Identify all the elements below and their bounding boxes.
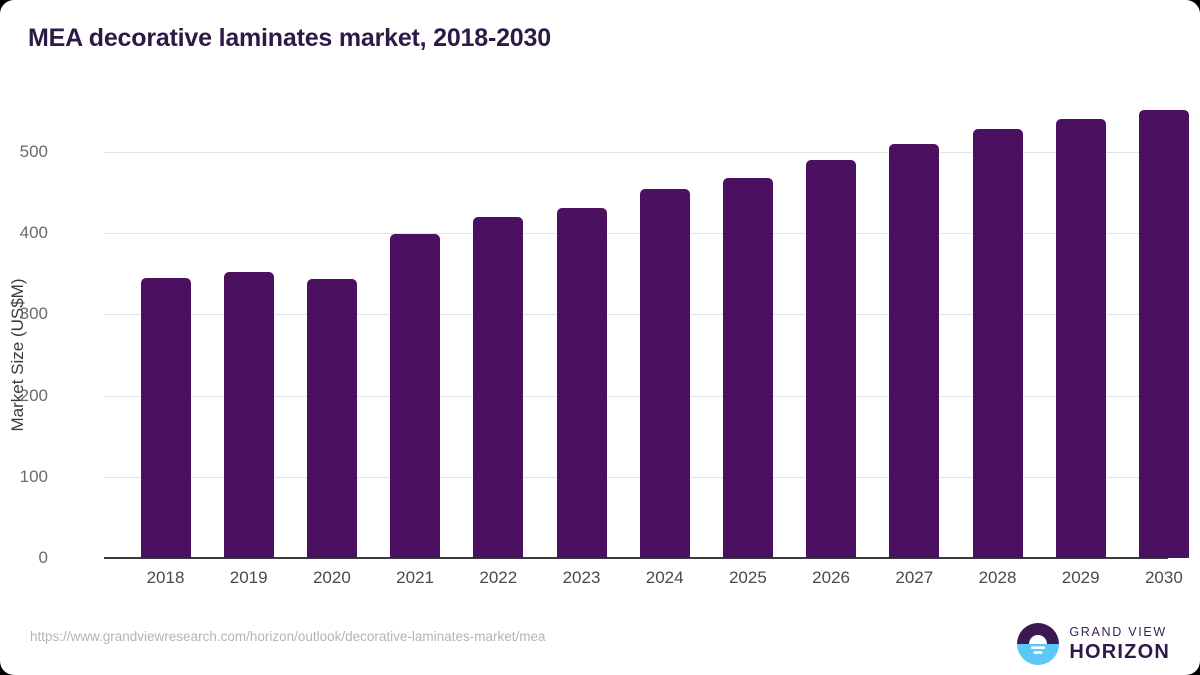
- bar[interactable]: [557, 208, 607, 558]
- y-tick-label: 200: [0, 386, 48, 406]
- grand-view-horizon-circle-icon: [1016, 622, 1060, 666]
- chart-card: MEA decorative laminates market, 2018-20…: [0, 0, 1200, 675]
- bar[interactable]: [1139, 110, 1189, 558]
- bar-slot: [706, 152, 789, 558]
- bar-slot: [1039, 152, 1122, 558]
- bar-slot: [623, 152, 706, 558]
- bar[interactable]: [640, 189, 690, 558]
- bar[interactable]: [141, 278, 191, 558]
- bar-series: 2018201920202021202220232024202520262027…: [104, 152, 1168, 558]
- page-title: MEA decorative laminates market, 2018-20…: [28, 24, 551, 53]
- bar[interactable]: [723, 178, 773, 558]
- bar-slot: [374, 152, 457, 558]
- y-tick-label: 0: [0, 548, 48, 568]
- bar-slot: [956, 152, 1039, 558]
- bar-slot: [790, 152, 873, 558]
- bar[interactable]: [806, 160, 856, 558]
- y-axis-title: Market Size (US$M): [8, 278, 28, 431]
- bar-slot: [207, 152, 290, 558]
- bar[interactable]: [973, 129, 1023, 558]
- x-tick-label: 2025: [706, 568, 789, 588]
- logo-line-2: HORIZON: [1069, 642, 1170, 662]
- x-tick-label: 2020: [290, 568, 373, 588]
- y-tick-label: 300: [0, 304, 48, 324]
- brand-logo[interactable]: GRAND VIEW HORIZON: [1016, 620, 1170, 668]
- x-tick-label: 2027: [873, 568, 956, 588]
- bar-slot: [124, 152, 207, 558]
- bar-slot: [1122, 152, 1200, 558]
- y-tick-label: 100: [0, 467, 48, 487]
- bar[interactable]: [307, 279, 357, 558]
- bar-slot: [540, 152, 623, 558]
- x-tick-label: 2018: [124, 568, 207, 588]
- x-tick-label: 2026: [790, 568, 873, 588]
- bar[interactable]: [473, 217, 523, 558]
- x-tick-label: 2021: [374, 568, 457, 588]
- x-tick-label: 2024: [623, 568, 706, 588]
- bar[interactable]: [390, 234, 440, 558]
- bar-slot: [873, 152, 956, 558]
- x-tick-label: 2022: [457, 568, 540, 588]
- bar[interactable]: [224, 272, 274, 558]
- y-tick-label: 400: [0, 223, 48, 243]
- x-tick-label: 2030: [1122, 568, 1200, 588]
- y-tick-label: 500: [0, 142, 48, 162]
- bar[interactable]: [1056, 119, 1106, 558]
- x-tick-label: 2023: [540, 568, 623, 588]
- bar-slot: [290, 152, 373, 558]
- logo-wordmark: GRAND VIEW HORIZON: [1069, 626, 1170, 662]
- x-tick-label: 2019: [207, 568, 290, 588]
- bar[interactable]: [889, 144, 939, 558]
- logo-line-1: GRAND VIEW: [1069, 626, 1170, 639]
- source-url[interactable]: https://www.grandviewresearch.com/horizo…: [30, 629, 545, 644]
- x-tick-label: 2029: [1039, 568, 1122, 588]
- bar-slot: [457, 152, 540, 558]
- x-tick-label: 2028: [956, 568, 1039, 588]
